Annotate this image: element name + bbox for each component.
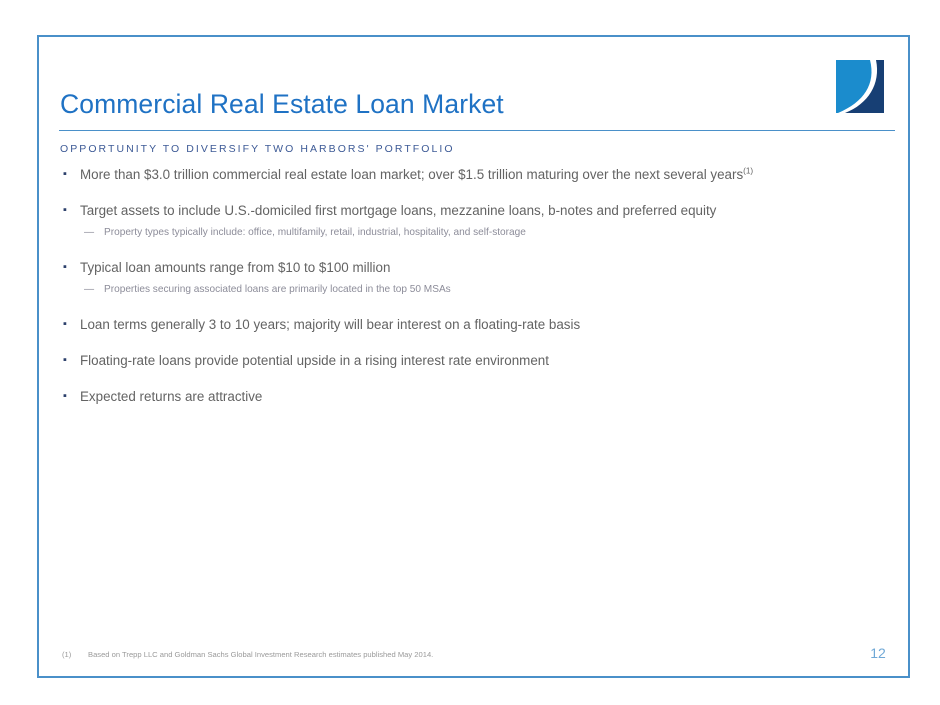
footnote-text: Based on Trepp LLC and Goldman Sachs Glo… [88, 650, 433, 659]
bullet-spacer [60, 240, 860, 259]
subbullet-dash-icon: — [84, 283, 94, 297]
title-divider [59, 130, 895, 131]
footnote-reference: (1) [743, 167, 753, 176]
subbullet-text: Properties securing associated loans are… [104, 284, 451, 295]
bullet-spacer [60, 297, 860, 316]
subbullet-dash-icon: — [84, 226, 94, 240]
footnote: (1)Based on Trepp LLC and Goldman Sachs … [62, 649, 433, 660]
subbullet-item: —Property types typically include: offic… [60, 226, 860, 240]
two-harbors-logo [836, 60, 884, 113]
page-number: 12 [866, 645, 890, 661]
subbullet-text: Property types typically include: office… [104, 227, 526, 238]
bullet-marker-icon: ▪ [63, 202, 67, 219]
bullet-text: Loan terms generally 3 to 10 years; majo… [80, 317, 580, 332]
bullet-marker-icon: ▪ [63, 388, 67, 405]
bullet-text: Expected returns are attractive [80, 389, 262, 404]
subbullet-item: —Properties securing associated loans ar… [60, 283, 860, 297]
slide-canvas: Commercial Real Estate Loan Market OPPOR… [0, 0, 940, 705]
bullet-marker-icon: ▪ [63, 166, 67, 183]
bullet-text: Floating-rate loans provide potential up… [80, 353, 549, 368]
bullet-marker-icon: ▪ [63, 316, 67, 333]
bullet-list: ▪More than $3.0 trillion commercial real… [60, 166, 860, 405]
bullet-item: ▪More than $3.0 trillion commercial real… [60, 166, 860, 183]
bullet-spacer [60, 183, 860, 202]
bullet-spacer [60, 369, 860, 388]
bullet-text: Target assets to include U.S.-domiciled … [80, 203, 716, 218]
bullet-item: ▪Target assets to include U.S.-domiciled… [60, 202, 860, 219]
bullet-spacer [60, 333, 860, 352]
page-subtitle: OPPORTUNITY TO DIVERSIFY TWO HARBORS' PO… [60, 143, 455, 155]
bullet-item: ▪Typical loan amounts range from $10 to … [60, 259, 860, 276]
bullet-item: ▪Loan terms generally 3 to 10 years; maj… [60, 316, 860, 333]
bullet-marker-icon: ▪ [63, 352, 67, 369]
bullet-item: ▪Floating-rate loans provide potential u… [60, 352, 860, 369]
subbullet-spacer [60, 219, 860, 226]
bullet-text: More than $3.0 trillion commercial real … [80, 167, 753, 182]
footnote-marker: (1) [62, 649, 88, 660]
bullet-text: Typical loan amounts range from $10 to $… [80, 260, 390, 275]
subbullet-spacer [60, 276, 860, 283]
page-title: Commercial Real Estate Loan Market [60, 89, 504, 120]
bullet-item: ▪Expected returns are attractive [60, 388, 860, 405]
bullet-marker-icon: ▪ [63, 259, 67, 276]
